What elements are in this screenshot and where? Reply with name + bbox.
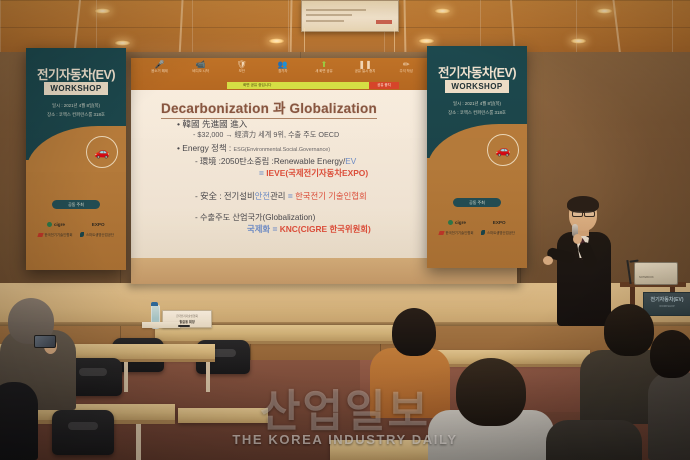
bottle-cap [151,302,158,306]
participants-icon-label: 참가자 [268,69,298,74]
annotate-icon[interactable]: ✏주석 작성 [391,60,421,74]
slide-subbullet-2: - 環境 :2050탄소중립 :Renewable Energy/EV [195,155,356,167]
slide-bullet-1: • 韓國 先進國 進入 [177,118,247,130]
video-icon-label: 비디오 시작 [186,69,216,74]
share-screen-icon-glyph: ⬆ [309,60,339,69]
participants-icon[interactable]: 👥참가자 [268,60,298,74]
table-leg [124,362,128,392]
pen-icon [178,325,190,327]
slide-bullet-2: • Energy 정책 : ESG(Environmental.Social.G… [177,142,330,154]
laptop-icon: NOTEBOOK [634,262,678,285]
expo-logo: EXPO [92,222,105,227]
downlight-icon [418,38,435,44]
video-icon[interactable]: 📹비디오 시작 [186,60,216,74]
banner-title: 전기자동차(EV) [26,64,126,83]
audience-head [650,330,690,378]
downlight-icon [114,40,131,46]
table-leg [136,424,141,460]
banner-logos: cigre EXPO 한국전기기술인협회 스마트생명산업공단 [435,220,519,240]
wall-sign-subtitle: WORKSHOP [644,305,690,308]
table-row [178,408,268,423]
table-leg [206,362,210,392]
banner-bottom-panel [26,160,126,270]
laptop-label: NOTEBOOK [639,276,654,279]
share-screen-icon-label: 새 화면 공유 [309,69,339,74]
downlight-icon [268,38,285,44]
screen-share-status-text: 화면 공유 중입니다 [227,83,271,88]
security-icon-glyph: 🛡 [227,60,257,69]
downlight-icon [434,8,451,14]
document-icon [142,322,180,328]
presenter-glasses [584,211,595,217]
slide-subbullet-3-mid: 관리 [270,191,288,201]
banner-date: 일시 : 2021년 4월 8일(목) [26,103,126,109]
slide-bullet-2-note: ESG(Environmental.Social.Governance) [234,147,330,153]
kea-logo: 한국전기기술인협회 [439,230,474,235]
chair [52,410,114,455]
wall-sign: 전기자동차(EV) WORKSHOP [643,292,690,316]
banner-subtitle: WORKSHOP [451,82,502,91]
wall-sign-title: 전기자동차(EV) [644,296,690,303]
slide-title: Decarbonization 과 Globalization [161,97,377,119]
share-screen-icon[interactable]: ⬆새 화면 공유 [309,60,339,74]
slide-subbullet-3-pre: - 安全 : 전기설비 [195,191,255,201]
audience-member-dark-left [0,382,38,460]
banner-subtitle: WORKSHOP [50,84,101,93]
kea-logo: 한국전기기술인협회 [38,232,73,237]
electric-car-icon: 🚗 [487,134,519,166]
banner-host-badge: 공동 주최 [453,198,501,207]
slide-accent-ev: EV [345,157,356,166]
presenter [543,198,627,326]
presenter-right-hand [573,234,582,244]
stop-share-label: 공유 중지 [369,82,399,89]
pause-share-icon-label: 공유 일시 중지 [350,69,380,74]
pause-share-icon-glyph: ❚❚ [350,60,380,69]
smartphone-icon [34,335,56,348]
pause-share-icon[interactable]: ❚❚공유 일시 중지 [350,60,380,74]
slide-highlight-knc: 국제화 = KNC(CIGRE 한국위원회) [247,223,371,235]
security-icon-label: 보안 [227,69,257,74]
banner-host-badge: 공동 주최 [52,200,100,209]
audience-member-plaid [370,348,450,418]
microphone-icon-glyph: 🎤 [145,60,175,69]
annotate-icon-label: 주석 작성 [391,69,421,74]
banner-host-label: 공동 주최 [469,200,485,206]
banner-date: 일시 : 2021년 4월 8일(목) [427,101,527,107]
participants-icon-glyph: 👥 [268,60,298,69]
smart-logo: 스마트생명산업공단 [481,230,515,235]
cigre-logo: cigre [47,222,64,227]
rollup-banner-right: 전기자동차(EV) WORKSHOP 일시 : 2021년 4월 8일(목) 장… [427,46,527,268]
downlight-icon [596,8,613,14]
gooseneck-microphone-icon [626,260,631,284]
banner-place: 장소 : 코엑스 컨퍼런스룸 318호 [427,110,527,116]
slide-accent-knc: KNC(CIGRE 한국위원회) [280,224,371,234]
banner-place: 장소 : 코엑스 컨퍼런스룸 318호 [26,112,126,118]
slide-accent-kea: 한국전기 기술인협회 [295,191,367,201]
banner-title: 전기자동차(EV) [427,62,527,81]
slide-bullet-2-main: • Energy 정책 : [177,143,234,153]
name-card-org: 한국전기기술인협회 [163,314,211,318]
downlight-icon [570,38,587,44]
slide-highlight-ieve: = IEVE(국제전기자동차EXPO) [259,167,368,179]
slide-subbullet-1: - $32,000 → 經濟力 세계 9위, 수출 주도 OECD [193,130,339,140]
security-icon[interactable]: 🛡보안 [227,60,257,74]
annotate-icon-glyph: ✏ [391,60,421,69]
audience-member-right [546,420,642,460]
audience-member-grey [648,372,690,460]
hanging-banner-icon [301,0,399,32]
audience-head [392,308,436,356]
expo-logo: EXPO [493,220,506,225]
banner-bottom-panel [427,158,527,268]
rollup-banner-left: 전기자동차(EV) WORKSHOP 일시 : 2021년 4월 8일(목) 장… [26,48,126,270]
arrow-glyph: = [288,191,293,201]
conference-room-photo: 🎤음소거 해제📹비디오 시작🛡보안👥참가자⬆새 화면 공유❚❚공유 일시 중지✏… [0,0,690,460]
slide-accent-safety: 안전 [255,191,270,201]
smart-logo: 스마트생명산업공단 [80,232,114,237]
arrow-glyph: = [259,168,264,178]
audience-head [456,358,526,426]
slide-accent-global: 국제화 [247,224,270,234]
banner-host-label: 공동 주최 [68,202,84,208]
banner-logos: cigre EXPO 한국전기기술인협회 스마트생명산업공단 [34,222,118,242]
slide-subbullet-4: - 수출주도 산업국가(Globalization) [195,211,315,223]
microphone-icon[interactable]: 🎤음소거 해제 [145,60,175,74]
stop-share-button[interactable]: 공유 중지 [369,82,399,89]
presenter-left-hand [543,256,553,265]
slide-subbullet-2-text: - 環境 :2050탄소중립 :Renewable Energy/ [195,157,345,166]
audience-head [604,304,654,356]
slide-accent-ieve: IEVE(국제전기자동차EXPO) [266,168,368,178]
slide-subbullet-3: - 安全 : 전기설비안전관리 = 한국전기 기술인협회 [195,190,367,202]
video-icon-glyph: 📹 [186,60,216,69]
presenter-glasses [572,211,583,217]
electric-car-icon: 🚗 [86,136,118,168]
downlight-icon [94,8,111,14]
arrow-glyph: = [272,224,277,234]
banner-subtitle-box: WORKSHOP [44,82,108,95]
banner-subtitle-box: WORKSHOP [445,80,509,93]
microphone-icon-label: 음소거 해제 [145,69,175,74]
cigre-logo: cigre [448,220,465,225]
